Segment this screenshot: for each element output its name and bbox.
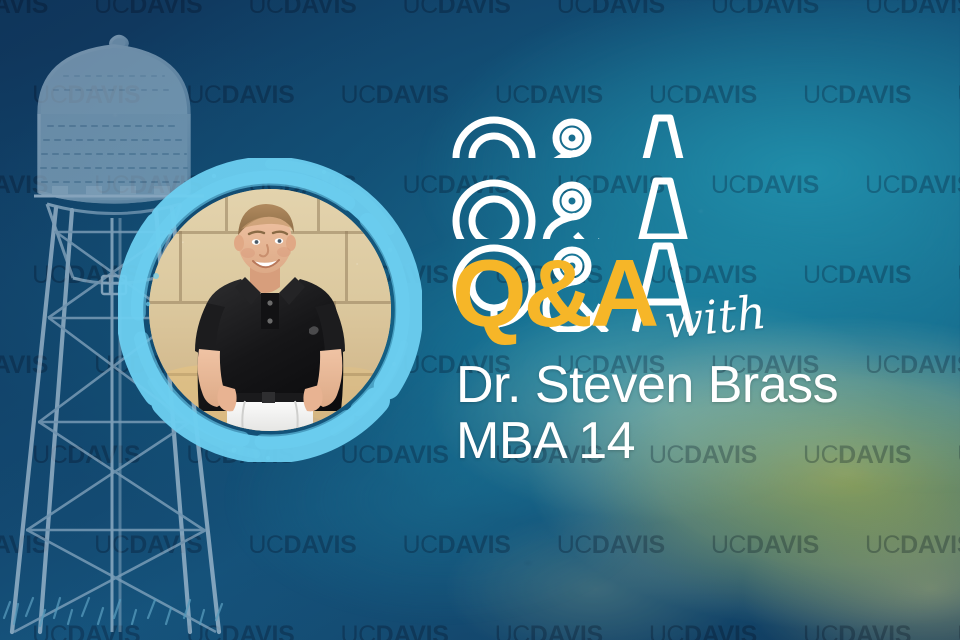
ucdavis-watermark: UCDAVIS <box>557 533 665 558</box>
watermark-davis: DAVIS <box>900 171 960 199</box>
watermark-uc: UC <box>803 621 838 640</box>
ucdavis-watermark: UCDAVIS <box>865 173 960 198</box>
ucdavis-watermark: UCDAVIS <box>248 0 356 18</box>
ucdavis-watermark: UCDAVIS <box>649 623 757 640</box>
ucdavis-watermark: UCDAVIS <box>865 0 960 18</box>
watermark-davis: DAVIS <box>900 531 960 559</box>
watermark-uc: UC <box>865 171 900 199</box>
watermark-davis: DAVIS <box>838 81 911 109</box>
watermark-uc: UC <box>803 81 838 109</box>
ucdavis-watermark: UCDAVIS <box>649 83 757 108</box>
ucdavis-watermark: UCDAVIS <box>803 83 911 108</box>
watermark-uc: UC <box>557 531 592 559</box>
watermark-davis: DAVIS <box>438 0 511 19</box>
watermark-davis: DAVIS <box>376 621 449 640</box>
watermark-davis: DAVIS <box>129 0 202 19</box>
watermark-uc: UC <box>711 171 746 199</box>
watermark-davis: DAVIS <box>684 81 757 109</box>
watermark-davis: DAVIS <box>592 0 665 19</box>
ucdavis-watermark: UCDAVIS <box>711 0 819 18</box>
ucdavis-watermark: UCDAVIS <box>94 0 202 18</box>
ucdavis-watermark: UCDAVIS <box>711 533 819 558</box>
watermark-uc: UC <box>248 531 283 559</box>
ucdavis-watermark: UCDAVIS <box>341 83 449 108</box>
watermark-uc: UC <box>403 0 438 19</box>
watermark-davis: DAVIS <box>530 81 603 109</box>
watermark-davis: DAVIS <box>592 531 665 559</box>
watermark-uc: UC <box>248 0 283 19</box>
watermark-uc: UC <box>94 0 129 19</box>
ucdavis-watermark: UCDAVIS <box>495 83 603 108</box>
ucdavis-watermark: UCDAVIS <box>403 0 511 18</box>
ucdavis-watermark: UCDAVIS <box>495 623 603 640</box>
watermark-davis: DAVIS <box>283 531 356 559</box>
watermark-davis: DAVIS <box>438 531 511 559</box>
watermark-davis: DAVIS <box>746 171 819 199</box>
watermark-uc: UC <box>649 621 684 640</box>
watermark-uc: UC <box>495 81 530 109</box>
watermark-davis: DAVIS <box>746 0 819 19</box>
guest-credential: MBA 14 <box>456 414 926 470</box>
ucdavis-watermark: UCDAVIS <box>0 0 48 18</box>
watermark-uc: UC <box>711 0 746 19</box>
watermark-uc: UC <box>403 531 438 559</box>
promotional-banner: UCDAVISUCDAVISUCDAVISUCDAVISUCDAVISUCDAV… <box>0 0 960 640</box>
watermark-uc: UC <box>341 621 376 640</box>
watermark-davis: DAVIS <box>283 0 356 19</box>
watermark-davis: DAVIS <box>746 531 819 559</box>
headline-block: Dr. Steven Brass MBA 14 <box>456 358 926 469</box>
watermark-uc: UC <box>803 261 838 289</box>
ucdavis-watermark: UCDAVIS <box>865 533 960 558</box>
watermark-davis: DAVIS <box>0 0 48 19</box>
watermark-uc: UC <box>341 81 376 109</box>
with-script-text: with <box>662 289 768 345</box>
portrait <box>118 158 422 462</box>
qa-wordmark: Q&A <box>452 246 656 342</box>
brush-stroke-ring <box>118 158 422 462</box>
watermark-davis: DAVIS <box>530 621 603 640</box>
watermark-davis: DAVIS <box>838 621 911 640</box>
ucdavis-watermark: UCDAVIS <box>711 173 819 198</box>
watermark-davis: DAVIS <box>838 261 911 289</box>
watermark-uc: UC <box>865 0 900 19</box>
watermark-uc: UC <box>495 621 530 640</box>
ucdavis-watermark: UCDAVIS <box>248 533 356 558</box>
ucdavis-watermark: UCDAVIS <box>803 623 911 640</box>
ucdavis-watermark: UCDAVIS <box>803 263 911 288</box>
watermark-uc: UC <box>557 0 592 19</box>
ucdavis-watermark: UCDAVIS <box>403 533 511 558</box>
watermark-davis: DAVIS <box>684 621 757 640</box>
watermark-davis: DAVIS <box>900 0 960 19</box>
watermark-uc: UC <box>649 81 684 109</box>
guest-name: Dr. Steven Brass <box>456 358 926 414</box>
ucdavis-watermark: UCDAVIS <box>557 0 665 18</box>
watermark-uc: UC <box>865 531 900 559</box>
watermark-davis: DAVIS <box>376 81 449 109</box>
watermark-uc: UC <box>711 531 746 559</box>
ucdavis-watermark: UCDAVIS <box>341 623 449 640</box>
